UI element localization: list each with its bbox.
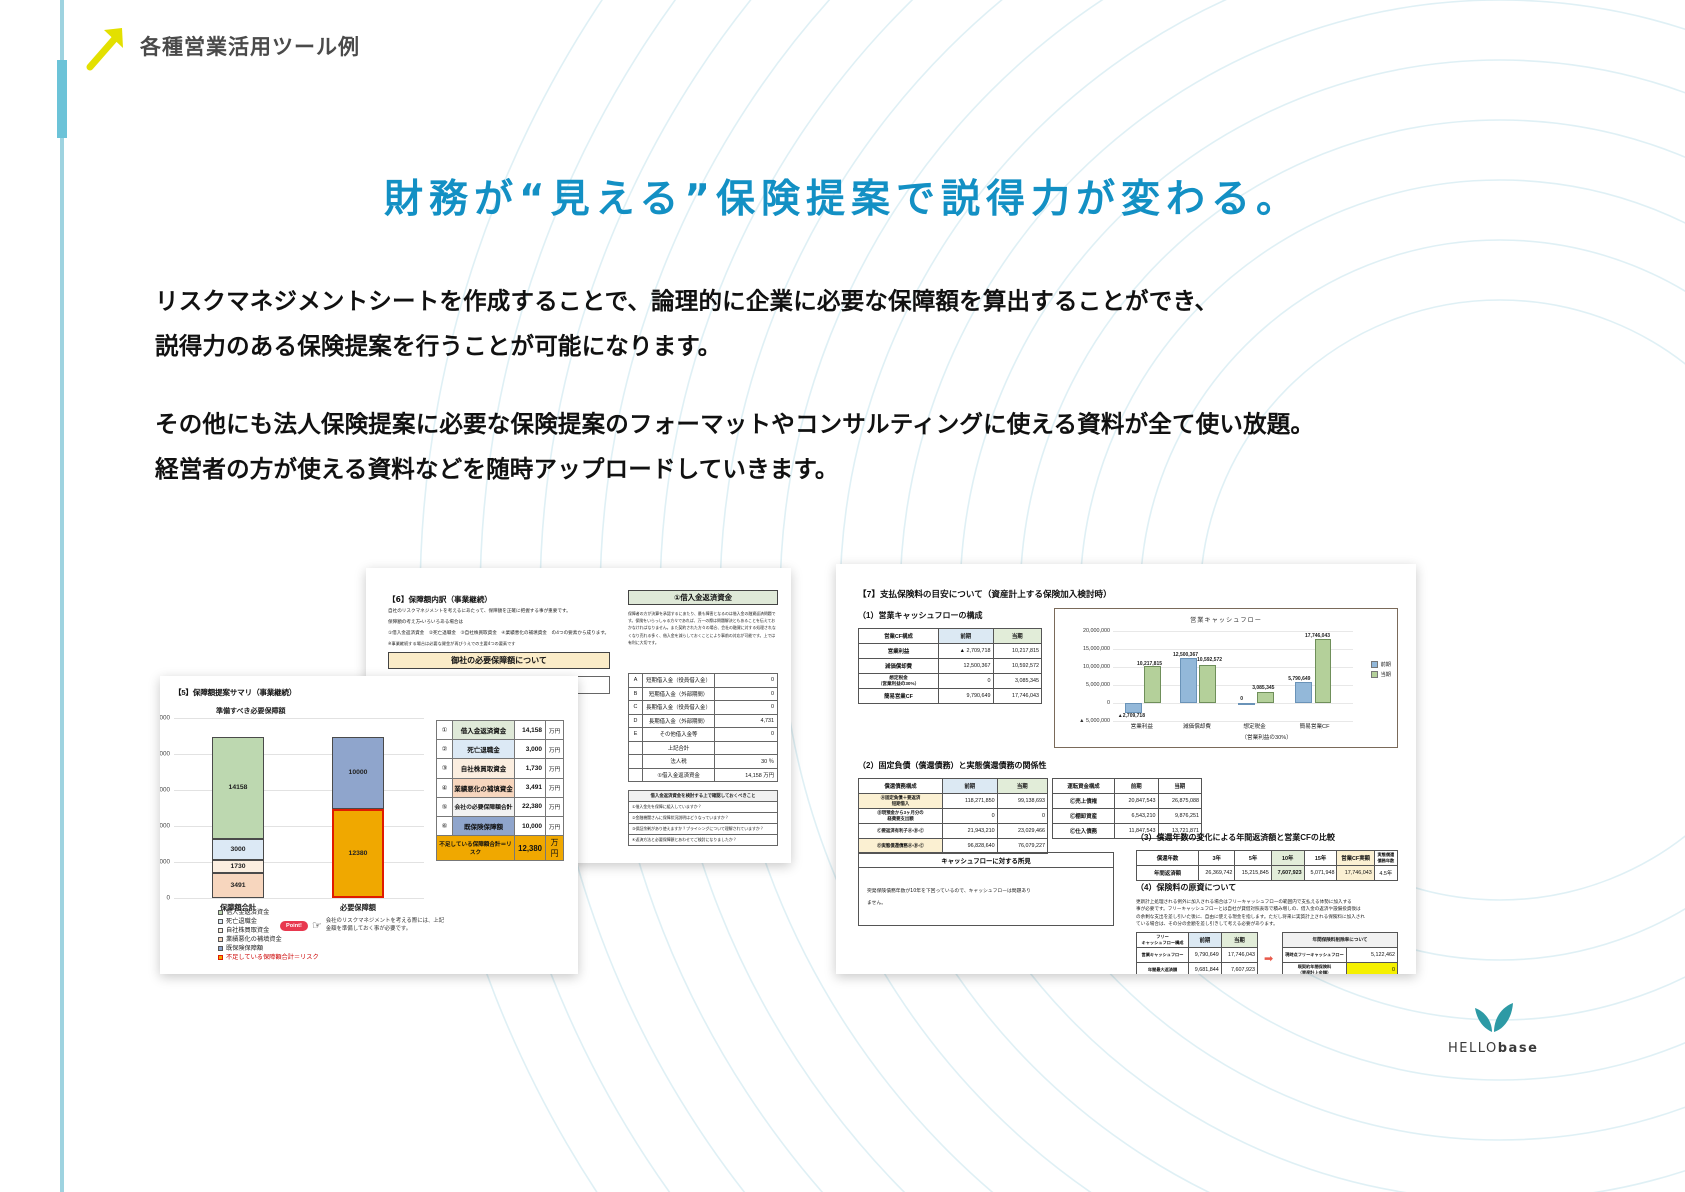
- section4-para-line: 事が必要です。フリーキャッシュフローとは自社が貸借対照表等で積み増しの、借入金の…: [1136, 905, 1398, 912]
- mid-check-item: ②金融機関さんに保障状況説明はどうなっていますか？: [628, 813, 778, 824]
- legend-item: 業績悪化の補填資金: [218, 935, 319, 944]
- table-row: 年間返済額 26,369,742 15,215,845 7,607,923 5,…: [1137, 866, 1398, 881]
- table-row: 営業利益▲ 2,709,71810,217,815: [859, 644, 1042, 659]
- y-tick: 5,000: [160, 859, 170, 866]
- col-header: 前期: [943, 779, 998, 794]
- row-value: 22,380: [515, 797, 546, 816]
- row-index: ①: [437, 721, 453, 740]
- cell-value: 7,607,923: [1271, 866, 1304, 881]
- table-row: A短期借入金（役員借入金）0: [629, 674, 778, 688]
- row-index: ④: [437, 778, 453, 797]
- cell-label: 法人税: [643, 755, 715, 769]
- cell-value: 4,731: [715, 714, 778, 728]
- legend-label: 業績悪化の補填資金: [226, 936, 282, 943]
- table-row: ①借入金返済資金14,158万円: [437, 721, 564, 740]
- cell-cur: 7,607,923: [1221, 963, 1257, 975]
- section2-left-table: 償還債務構成 前期 当期 Ⓐ固定負債＋要返済 短期借入118,271,85099…: [858, 778, 1048, 854]
- bar-label: 17,746,043: [1305, 633, 1330, 639]
- col-header: 当期: [1158, 779, 1202, 794]
- chart-legend: 前期 当期: [1371, 661, 1391, 681]
- left-doc-heading: 【5】保障額提案サマリ（事業継続）: [174, 687, 296, 698]
- pointing-hand-icon: ☞: [312, 919, 322, 932]
- table-total-row: 不足している保障額合計＝リスク12,380万円: [437, 836, 564, 861]
- table-row: B短期借入金（外部期間）0: [629, 687, 778, 701]
- bar-prev-1: [1125, 703, 1142, 713]
- y-tick: 15,000: [160, 787, 170, 794]
- cell-value: 5,122,462: [1347, 948, 1398, 963]
- y-tick: 20,000,000: [1083, 628, 1110, 634]
- chart-plot-area: 20,000,000 15,000,000 10,000,000 5,000,0…: [1113, 631, 1353, 721]
- row-value: 3,491: [515, 778, 546, 797]
- row-value: 1,730: [515, 759, 546, 778]
- para1-line2: 説得力のある保険提案を行うことが可能になります。: [155, 329, 1314, 365]
- section1-table: 営業CF構成 前期 当期 営業利益▲ 2,709,71810,217,815 減…: [858, 628, 1042, 704]
- left-chart-legend: 借入金返済資金 死亡退職金 自社株買取資金 業績悪化の補填資金 既保険保障額 不…: [218, 908, 319, 962]
- bar-label: 5,790,649: [1288, 676, 1310, 682]
- cell-key: C: [629, 701, 643, 715]
- segment-loan: 14158: [212, 737, 264, 839]
- segment-shortfall: 12380: [332, 809, 384, 898]
- section4-right-table: 年間保険料削除率について 現時点フリーキャッシュフロー5,122,462 既契約…: [1282, 932, 1398, 974]
- col-header: 年間保険料削除率について: [1283, 933, 1398, 948]
- section4-left-table: フリー キャッシュフロー構成 前期 当期 営業キャッシュフロー9,790,649…: [1136, 932, 1258, 974]
- section1-title: （1）営業キャッシュフローの構成: [858, 610, 982, 621]
- operating-cashflow-chart: 営業キャッシュフロー 20,000,000 15,000,000 10,000,…: [1054, 608, 1398, 748]
- cell-label: Ⓒ売上債権: [1053, 794, 1115, 809]
- section4-para-line: の余剰な支出を差し引いた後に、自由に使える現金を指します。ただし将来に実質計上さ…: [1136, 913, 1398, 920]
- point-note-line1: 会社のリスクマネジメントを考える際には、上記: [326, 918, 444, 924]
- segment-retirement: 3000: [212, 839, 264, 861]
- page-title: 財務が“見える”保険提案で説得力が変わる。: [0, 168, 1685, 224]
- bar-stack-coverage: 14158 3000 1730 3491 保障額合計: [212, 737, 264, 898]
- cell-cur: 17,746,043: [993, 689, 1042, 704]
- row-unit: 万円: [546, 740, 564, 759]
- cell-label: 年間最大返済額: [1137, 963, 1189, 975]
- leaf-icon: [1470, 1000, 1516, 1034]
- chart-title: 営業キャッシュフロー: [1055, 615, 1397, 624]
- legend-label: 不足している保障額合計＝リスク: [226, 954, 319, 961]
- cell-label: 年間返済額: [1137, 866, 1199, 881]
- mid-check-item: ③保証余剰があり使えますか？プライシングについて理解されていますか？: [628, 824, 778, 835]
- point-badge-label: Point!: [280, 921, 308, 931]
- mid-lead-2: 保障額の考え方・いろいろある場合は: [388, 619, 463, 625]
- table-row: Ⓒ売上債権20,847,54326,875,088: [1053, 794, 1202, 809]
- y-tick: 15,000,000: [1083, 646, 1110, 652]
- table-row: 現時点フリーキャッシュフロー5,122,462: [1283, 948, 1398, 963]
- cell-cur: 3,085,345: [993, 674, 1042, 689]
- total-label: 不足している保障額合計＝リスク: [437, 836, 515, 861]
- table-row: ①借入金返済資金14,158 万円: [629, 768, 778, 782]
- table-row: 既契約年間保険料 （資産計上金額）0: [1283, 963, 1398, 975]
- cell-label: 長期借入金（外部期間）: [643, 714, 715, 728]
- bar-label: 10,592,572: [1197, 657, 1222, 663]
- cell-prev: 9,790,649: [1189, 948, 1222, 963]
- cell-label: 営業キャッシュフロー: [1137, 948, 1189, 963]
- cashflow-box-line2: ません。: [867, 899, 886, 906]
- table-row: 上記合計: [629, 741, 778, 755]
- cell-label: その他借入金等: [643, 728, 715, 742]
- cell-prev: 9,790,649: [939, 689, 994, 704]
- brand-logo: HELLObase: [1448, 1000, 1538, 1056]
- section4-para-line: 更新計上処理される例外に加入される場合はフリーキャッシュフローの範囲内で支払える…: [1136, 898, 1398, 905]
- row-value: 14,158: [515, 721, 546, 740]
- col-header: 運転資金構成: [1053, 779, 1115, 794]
- bar-prev-3: [1238, 703, 1255, 705]
- point-callout: Point! ☞ 会社のリスクマネジメントを考える際には、上記 金額を準備してお…: [280, 918, 444, 934]
- cell-key: D: [629, 714, 643, 728]
- col-header: 償還年数: [1137, 851, 1199, 866]
- mid-check-title: 借入金返済資金を検討する上で確認しておくべきこと: [628, 790, 778, 802]
- table-row: Ⓒ要返済有利子Ⓐ-Ⓑ-Ⓒ21,943,21023,029,466: [859, 824, 1048, 839]
- mid-right-banner: ①借入金返済資金: [628, 590, 778, 605]
- cell-prev: 0: [943, 809, 998, 824]
- row-index: ⑤: [437, 797, 453, 816]
- body-copy: リスクマネジメントシートを作成することで、論理的に企業に必要な保障額を算出するこ…: [155, 284, 1314, 497]
- cell-label: 既契約年間保険料 （資産計上金額）: [1283, 963, 1347, 975]
- page-header: 各種営業活用ツール例: [84, 20, 360, 72]
- arrow-up-right-icon: [84, 20, 128, 72]
- row-label: 借入金返済資金: [453, 721, 515, 740]
- legend-label: 自社株買取資金: [226, 927, 269, 934]
- row-index: ⑥: [437, 816, 453, 835]
- section3-title: （3）償還年数の変化による年間返済額と営業CFの比較: [1136, 832, 1335, 843]
- table-row: Ⓐ固定負債＋要返済 短期借入118,271,85099,138,693: [859, 794, 1048, 809]
- para2-line2: 経営者の方が使える資料などを随時アップロードしていきます。: [155, 452, 1314, 488]
- mid-check-item: ④返済方法と必要保障額とあわせてご検討になりましたか？: [628, 835, 778, 846]
- col-header: 10年: [1271, 851, 1304, 866]
- table-row: D長期借入金（外部期間）4,731: [629, 714, 778, 728]
- cell-label: ①借入金返済資金: [643, 768, 715, 782]
- cell-value: 30 ％: [715, 755, 778, 769]
- cell-value: 15,215,845: [1235, 866, 1271, 881]
- table-row: 年間最大返済額9,681,8447,607,923: [1137, 963, 1258, 975]
- row-unit: 万円: [546, 797, 564, 816]
- cell-prev: 20,847,543: [1115, 794, 1159, 809]
- cell-prev: ▲ 2,709,718: [939, 644, 994, 659]
- x-tick: 減価償却費: [1173, 722, 1221, 730]
- segment-deficit: 3491: [212, 873, 264, 898]
- legend-item: 当期: [1371, 671, 1391, 678]
- bar-label: ▲2,709,718: [1118, 713, 1145, 719]
- segment-stock: 1730: [212, 860, 264, 873]
- bar-cur-3: [1257, 692, 1274, 703]
- row-index: ③: [437, 759, 453, 778]
- cell-value: 0: [1347, 963, 1398, 975]
- brand-name-bold: base: [1498, 1041, 1539, 1056]
- table-row: 営業キャッシュフロー9,790,64917,746,043: [1137, 948, 1258, 963]
- cell-label: 現時点フリーキャッシュフロー: [1283, 948, 1347, 963]
- col-header: 営業CF構成: [859, 629, 939, 644]
- table-header-row: 運転資金構成 前期 当期: [1053, 779, 1202, 794]
- col-header: 前期: [1189, 933, 1222, 948]
- cell-prev: 6,543,210: [1115, 809, 1159, 824]
- cell-value: 0: [715, 674, 778, 688]
- para1-line1: リスクマネジメントシートを作成することで、論理的に企業に必要な保障額を算出するこ…: [155, 284, 1314, 320]
- cell-value: 26,369,742: [1199, 866, 1235, 881]
- bar-label: 0: [1240, 696, 1243, 702]
- cell-value: [715, 741, 778, 755]
- col-header: 実態償還 債務年数: [1374, 851, 1397, 866]
- table-row: Ⓒ棚卸資産6,543,2109,876,251: [1053, 809, 1202, 824]
- cell-key: A: [629, 674, 643, 688]
- row-label: 既保険保障額: [453, 816, 515, 835]
- row-value: 3,000: [515, 740, 546, 759]
- cell-value: 0: [715, 687, 778, 701]
- row-label: 死亡退職金: [453, 740, 515, 759]
- legend-item: 不足している保障額合計＝リスク: [218, 953, 319, 962]
- cell-cur: 99,138,693: [997, 794, 1047, 809]
- cashflow-comment-box: キャッシュフローに対する所見 突発保険債務年数が10年を下回っているので、キャッ…: [858, 852, 1114, 926]
- document-card-summary[interactable]: 【5】保障額提案サマリ（事業継続） 準備すべき必要保障額 25,000 20,0…: [160, 676, 578, 974]
- section4-para-line: ている場合は、その分の金額を差し引きして考える必要があります。: [1136, 920, 1398, 927]
- coverage-summary-table: ①借入金返済資金14,158万円 ②死亡退職金3,000万円 ③自社株買取資金1…: [436, 720, 564, 861]
- x-tick: 必要保障額: [303, 903, 413, 913]
- y-tick: 10,000: [160, 823, 170, 830]
- cell-key: B: [629, 687, 643, 701]
- cell-prev: 9,681,844: [1189, 963, 1222, 975]
- col-header: 当期: [993, 629, 1042, 644]
- y-tick: 25,000: [160, 715, 170, 722]
- point-note: 会社のリスクマネジメントを考える際には、上記 金額を準備しておく事が必要です。: [326, 918, 444, 934]
- bar-label: 10,217,815: [1137, 661, 1162, 667]
- col-header: 前期: [939, 629, 994, 644]
- row-unit: 万円: [546, 721, 564, 740]
- cell-prev: 0: [939, 674, 994, 689]
- bar-prev-2: [1180, 658, 1197, 703]
- bar-label: 12,500,367: [1173, 652, 1198, 658]
- cell-cur: 26,875,088: [1158, 794, 1202, 809]
- section3-table: 償還年数 3年 5年 10年 15年 営業CF実額 実態償還 債務年数 年間返済…: [1136, 850, 1398, 881]
- cell-value: 17,746,043: [1337, 866, 1374, 881]
- arrow-right-icon: ➡: [1264, 952, 1273, 965]
- cell-cur: 10,217,815: [993, 644, 1042, 659]
- brand-name: HELLObase: [1448, 1041, 1538, 1056]
- col-header: 前期: [1115, 779, 1159, 794]
- cell-key: E: [629, 728, 643, 742]
- total-value: 12,380: [515, 836, 546, 861]
- copy-gap: [155, 373, 1314, 407]
- header-title: 各種営業活用ツール例: [140, 31, 360, 61]
- table-header-row: フリー キャッシュフロー構成 前期 当期: [1137, 933, 1258, 948]
- cell-label: Ⓒ要返済有利子Ⓐ-Ⓑ-Ⓒ: [859, 824, 943, 839]
- legend-label: 前期: [1381, 661, 1391, 668]
- document-card-premium[interactable]: 【7】支払保険料の目安について（資産計上する保険加入検討時） （1）営業キャッシ…: [836, 564, 1416, 974]
- cell-label: Ⓒ仕入債務: [1053, 824, 1115, 839]
- mid-lead-3: ①借入金返済資金 ②死亡退職金 ③自社株買取資金 ④業績悪化の補填資金 の4つの…: [388, 630, 609, 636]
- bar-label: 3,085,345: [1252, 685, 1274, 691]
- left-chart-title: 準備すべき必要保障額: [216, 706, 286, 716]
- x-tick: 営業利益: [1118, 722, 1166, 730]
- chart-xlabel-note: （営業利益の30%）: [1219, 733, 1315, 741]
- section2-right-table: 運転資金構成 前期 当期 Ⓒ売上債権20,847,54326,875,088 Ⓒ…: [1052, 778, 1202, 839]
- y-tick: 0: [1107, 700, 1110, 706]
- left-rail-accent: [57, 60, 67, 138]
- cell-label: 長期借入金（役員借入金）: [643, 701, 715, 715]
- legend-label: 既保険保障額: [226, 945, 263, 952]
- mid-lead-1: 自社のリスクマネジメントを考えるにあたって、保障額を正確に把握する事が重要です。: [388, 608, 571, 614]
- cell-value: 14,158 万円: [715, 768, 778, 782]
- table-header-row: 年間保険料削除率について: [1283, 933, 1398, 948]
- mid-lead-4: ※事業継続する場合は必要な資金が再びうえでの主要4つの要素です: [388, 641, 516, 647]
- table-row: ②死亡退職金3,000万円: [437, 740, 564, 759]
- cell-label: 営業利益: [859, 644, 939, 659]
- table-row: ③自社株買取資金1,730万円: [437, 759, 564, 778]
- table-row: ⑥既保険保障額10,000万円: [437, 816, 564, 835]
- cell-value: 0: [715, 701, 778, 715]
- col-header: 償還債務構成: [859, 779, 943, 794]
- row-label: 業績悪化の補填資金: [453, 778, 515, 797]
- cell-value: 4.5年: [1374, 866, 1397, 881]
- cell-value: 0: [715, 728, 778, 742]
- row-label: 会社の必要保障額合計: [453, 797, 515, 816]
- para2-line1: その他にも法人保険提案に必要な保険提案のフォーマットやコンサルティングに使える資…: [155, 407, 1314, 443]
- table-row: Eその他借入金等0: [629, 728, 778, 742]
- cashflow-box-title: キャッシュフローに対する所見: [859, 853, 1113, 868]
- legend-item: 既保険保障額: [218, 944, 319, 953]
- cell-cur: 10,592,572: [993, 659, 1042, 674]
- cell-cur: 17,746,043: [1221, 948, 1257, 963]
- cell-prev: 12,500,367: [939, 659, 994, 674]
- bar-cur-2: [1199, 665, 1216, 703]
- table-header-row: 営業CF構成 前期 当期: [859, 629, 1042, 644]
- cell-prev: 118,271,850: [943, 794, 998, 809]
- y-tick: 20,000: [160, 751, 170, 758]
- total-unit: 万円: [546, 836, 564, 861]
- legend-label: 借入金返済資金: [226, 909, 269, 916]
- row-index: ②: [437, 740, 453, 759]
- cell-label: 減価償却費: [859, 659, 939, 674]
- cell-label: Ⓑ現預金から3ヶ月分の 経費要支出額: [859, 809, 943, 824]
- brand-name-light: HELLO: [1448, 1041, 1498, 1056]
- cell-cur: 9,876,251: [1158, 809, 1202, 824]
- cell-prev: 21,943,210: [943, 824, 998, 839]
- table-row: 想定税金 （営業利益の30%）03,085,345: [859, 674, 1042, 689]
- col-header: 営業CF実額: [1337, 851, 1374, 866]
- legend-item: 借入金返済資金: [218, 908, 319, 917]
- col-header: 15年: [1304, 851, 1337, 866]
- table-row: 簡易営業CF9,790,64917,746,043: [859, 689, 1042, 704]
- bar-stack-required: 10000 12380 必要保障額: [332, 737, 384, 898]
- mid-right-table: A短期借入金（役員借入金）0 B短期借入金（外部期間）0 C長期借入金（役員借入…: [628, 673, 778, 782]
- table-row: 減価償却費12,500,36710,592,572: [859, 659, 1042, 674]
- cashflow-box-line1: 突発保険債務年数が10年を下回っているので、キャッシュフローは問題あり: [867, 887, 1031, 894]
- row-value: 10,000: [515, 816, 546, 835]
- x-tick: 想定税金: [1231, 722, 1279, 730]
- cell-label: 想定税金 （営業利益の30%）: [859, 674, 939, 689]
- row-label: 自社株買取資金: [453, 759, 515, 778]
- bar-prev-4: [1295, 682, 1312, 703]
- cell-label: 短期借入金（役員借入金）: [643, 674, 715, 688]
- right-doc-heading: 【7】支払保険料の目安について（資産計上する保険加入検討時）: [858, 588, 1112, 600]
- segment-existing: 10000: [332, 737, 384, 809]
- section4-title: （4）保険料の原資について: [1136, 882, 1236, 893]
- table-row: 法人税30 ％: [629, 755, 778, 769]
- col-header: フリー キャッシュフロー構成: [1137, 933, 1189, 948]
- row-unit: 万円: [546, 778, 564, 797]
- cell-cur: 0: [997, 809, 1047, 824]
- mid-right-paragraph: 保障者の方が決算を承認するにあたり、最も障害となるのは借入金の融資返済問題です。…: [628, 610, 778, 646]
- cell-label: 上記合計: [643, 741, 715, 755]
- cell-cur: 23,029,466: [997, 824, 1047, 839]
- table-row: Ⓑ現預金から3ヶ月分の 経費要支出額00: [859, 809, 1048, 824]
- table-header-row: 償還債務構成 前期 当期: [859, 779, 1048, 794]
- y-tick: 5,000,000: [1086, 682, 1110, 688]
- bar-cur-4: [1315, 639, 1332, 703]
- cell-label: Ⓐ固定負債＋要返済 短期借入: [859, 794, 943, 809]
- mid-doc-heading: 【6】保障額内訳（事業継続）: [388, 594, 492, 605]
- point-note-line2: 金額を準備しておく事が必要です。: [326, 926, 411, 932]
- legend-label: 死亡退職金: [226, 918, 257, 925]
- cell-value: 5,071,948: [1304, 866, 1337, 881]
- legend-label: 当期: [1381, 671, 1391, 678]
- section2-title: （2）固定負債（償還債務）と実態償還債務の関係性: [858, 760, 1046, 771]
- row-unit: 万円: [546, 759, 564, 778]
- cell-label: 簡易営業CF: [859, 689, 939, 704]
- table-row: C長期借入金（役員借入金）0: [629, 701, 778, 715]
- row-unit: 万円: [546, 816, 564, 835]
- bar-cur-1: [1144, 666, 1161, 703]
- table-row: ④業績悪化の補填資金3,491万円: [437, 778, 564, 797]
- x-tick: 簡易営業CF: [1288, 722, 1341, 730]
- col-header: 当期: [1221, 933, 1257, 948]
- col-header: 当期: [997, 779, 1047, 794]
- required-coverage-chart: 25,000 20,000 15,000 10,000 5,000 0 1415…: [174, 718, 424, 898]
- cell-label: Ⓒ棚卸資産: [1053, 809, 1115, 824]
- mid-banner: 御社の必要保障額について: [388, 652, 610, 669]
- legend-item: 前期: [1371, 661, 1391, 668]
- mid-check-item: ①借入金先を保障に組入していますか？: [628, 802, 778, 813]
- table-row: ⑤会社の必要保障額合計22,380万円: [437, 797, 564, 816]
- y-tick: 0: [166, 895, 170, 902]
- col-header: 3年: [1199, 851, 1235, 866]
- y-tick: ▲ 5,000,000: [1079, 718, 1110, 724]
- table-header-row: 償還年数 3年 5年 10年 15年 営業CF実額 実態償還 債務年数: [1137, 851, 1398, 866]
- y-tick: 10,000,000: [1083, 664, 1110, 670]
- col-header: 5年: [1235, 851, 1271, 866]
- cell-label: 短期借入金（外部期間）: [643, 687, 715, 701]
